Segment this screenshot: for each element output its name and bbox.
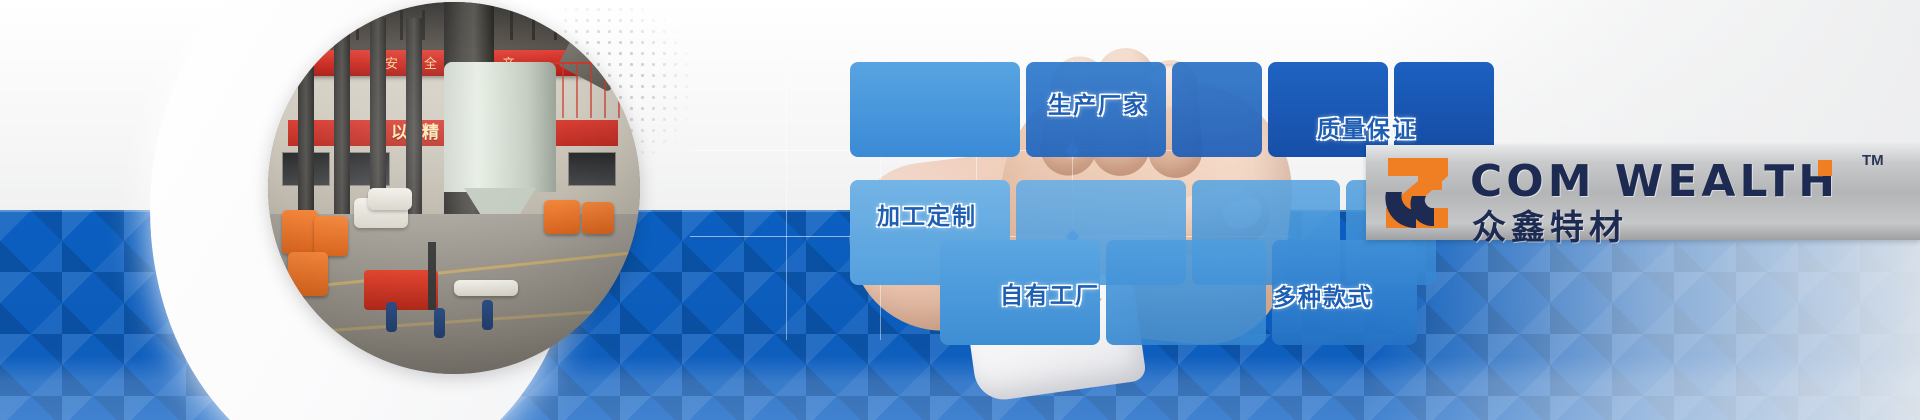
- feature-label-own-factory: 自有工厂: [1000, 276, 1100, 310]
- factory-workshop-photo: 安全生产 以精立业: [268, 2, 640, 374]
- tile-manufacturer: [850, 62, 1020, 157]
- tile-quality: [1172, 62, 1262, 157]
- z-monogram-icon: [1378, 152, 1458, 234]
- tile-own-factory-b: [1106, 240, 1266, 345]
- brand-accent-square: [1818, 160, 1832, 176]
- feature-label-custom-processing: 加工定制: [877, 197, 977, 231]
- trademark-symbol: TM: [1862, 152, 1884, 169]
- brand-name-cn: 众鑫特材: [1472, 200, 1628, 249]
- promo-banner: 安全生产 以精立业: [0, 0, 1920, 420]
- feature-label-manufacturer: 生产厂家: [1048, 86, 1148, 120]
- feature-label-quality-assurance: 质量保证: [1317, 110, 1417, 144]
- feature-label-various-styles: 多种款式: [1273, 278, 1373, 312]
